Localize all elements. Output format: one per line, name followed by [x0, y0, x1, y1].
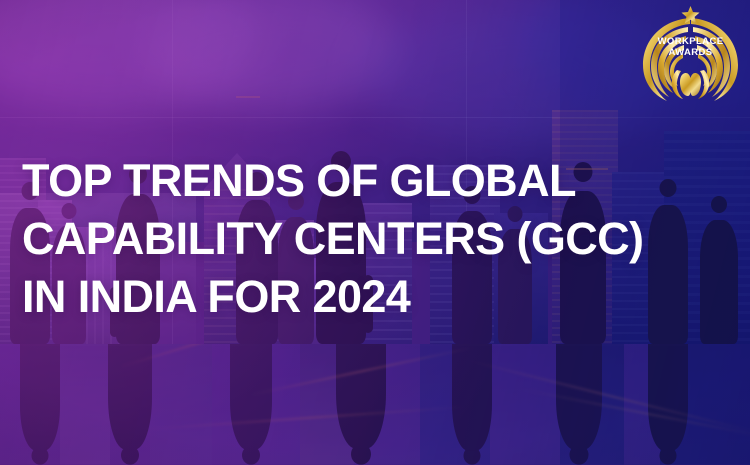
- gcc-trends-banner: TOP TRENDS OF GLOBAL CAPABILITY CENTERS …: [0, 0, 750, 465]
- workplace-awards-badge: WORKPLACE AWARDS: [631, 0, 750, 119]
- title-line-2: CAPABILITY CENTERS (GCC): [22, 210, 643, 268]
- title-line-3: IN INDIA FOR 2024: [22, 268, 643, 326]
- title-line-1: TOP TRENDS OF GLOBAL: [22, 152, 643, 210]
- w-monogram: [672, 70, 709, 99]
- page-title: TOP TRENDS OF GLOBAL CAPABILITY CENTERS …: [22, 152, 643, 326]
